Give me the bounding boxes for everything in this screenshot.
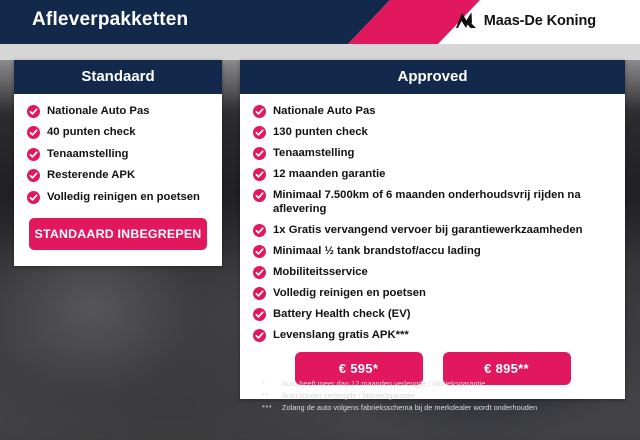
feature-label: Minimaal 7.500km of 6 maanden onderhouds… [273, 188, 612, 217]
footnote-marker: ** [262, 390, 276, 402]
feature-label: Nationale Auto Pas [273, 104, 376, 118]
maas-de-koning-m-logo-icon [455, 11, 477, 31]
check-circle-icon [253, 329, 266, 342]
feature-item: Volledig reinigen en poetsen [27, 190, 209, 204]
feature-label: 1x Gratis vervangend vervoer bij garanti… [273, 223, 583, 237]
check-circle-icon [253, 147, 266, 160]
check-circle-icon [253, 189, 266, 202]
feature-list-approved: Nationale Auto Pas130 punten checkTenaam… [253, 104, 612, 342]
feature-item: 1x Gratis vervangend vervoer bij garanti… [253, 223, 612, 237]
feature-item: Minimaal 7.500km of 6 maanden onderhouds… [253, 188, 612, 217]
feature-item: Nationale Auto Pas [253, 104, 612, 118]
footnote-row: *Auto heeft meer dan 12 maanden verlengd… [262, 378, 622, 390]
feature-item: Volledig reinigen en poetsen [253, 286, 612, 300]
check-circle-icon [253, 126, 266, 139]
footnote-marker: * [262, 378, 276, 390]
check-circle-icon [253, 105, 266, 118]
card-title-standaard: Standaard [14, 60, 222, 94]
feature-item: Mobiliteitsservice [253, 265, 612, 279]
footnote-text: Auto zonder verlengde / fabrieksgarantie [282, 390, 622, 402]
feature-label: Resterende APK [47, 168, 135, 182]
feature-label: 12 maanden garantie [273, 167, 385, 181]
footnote-text: Auto heeft meer dan 12 maanden verlengde… [282, 378, 622, 390]
check-circle-icon [27, 126, 40, 139]
feature-list-standaard: Nationale Auto Pas40 punten checkTenaams… [27, 104, 209, 204]
feature-label: Mobiliteitsservice [273, 265, 368, 279]
feature-label: Tenaamstelling [47, 147, 128, 161]
page-title: Afleverpakketten [32, 9, 188, 31]
footnote-row: **Auto zonder verlengde / fabrieksgarant… [262, 390, 622, 402]
feature-label: Levenslang gratis APK*** [273, 328, 409, 342]
check-circle-icon [27, 148, 40, 161]
card-body-standaard: Nationale Auto Pas40 punten checkTenaams… [14, 94, 222, 266]
footnote-row: ***Zolang de auto volgens fabrieksschema… [262, 402, 622, 414]
feature-item: Battery Health check (EV) [253, 307, 612, 321]
feature-label: Nationale Auto Pas [47, 104, 150, 118]
feature-item: Levenslang gratis APK*** [253, 328, 612, 342]
feature-label: Volledig reinigen en poetsen [273, 286, 426, 300]
card-body-approved: Nationale Auto Pas130 punten checkTenaam… [240, 94, 625, 399]
feature-item: Resterende APK [27, 168, 209, 182]
check-circle-icon [253, 266, 266, 279]
brand-logo: Maas-De Koning [455, 11, 596, 31]
feature-label: Volledig reinigen en poetsen [47, 190, 200, 204]
footnote-marker: *** [262, 402, 276, 414]
footnotes: *Auto heeft meer dan 12 maanden verlengd… [262, 378, 622, 414]
card-title-approved: Approved [240, 60, 625, 94]
feature-item: 12 maanden garantie [253, 167, 612, 181]
feature-item: Tenaamstelling [27, 147, 209, 161]
brand-name: Maas-De Koning [484, 13, 596, 29]
package-card-approved: Approved Nationale Auto Pas130 punten ch… [240, 60, 625, 399]
check-circle-icon [253, 224, 266, 237]
feature-item: Minimaal ½ tank brandstof/accu lading [253, 244, 612, 258]
feature-item: 130 punten check [253, 125, 612, 139]
check-circle-icon [27, 105, 40, 118]
standaard-inbegrepen-button[interactable]: STANDAARD INBEGREPEN [29, 218, 207, 250]
footnote-text: Zolang de auto volgens fabrieksschema bi… [282, 402, 622, 414]
feature-item: Tenaamstelling [253, 146, 612, 160]
feature-label: Tenaamstelling [273, 146, 354, 160]
feature-item: 40 punten check [27, 125, 209, 139]
check-circle-icon [27, 191, 40, 204]
check-circle-icon [253, 287, 266, 300]
header-underband [0, 44, 640, 60]
feature-label: Battery Health check (EV) [273, 307, 411, 321]
feature-item: Nationale Auto Pas [27, 104, 209, 118]
feature-label: 130 punten check [273, 125, 368, 139]
package-card-standaard: Standaard Nationale Auto Pas40 punten ch… [14, 60, 222, 266]
check-circle-icon [253, 168, 266, 181]
check-circle-icon [253, 245, 266, 258]
check-circle-icon [253, 308, 266, 321]
feature-label: Minimaal ½ tank brandstof/accu lading [273, 244, 481, 258]
check-circle-icon [27, 169, 40, 182]
feature-label: 40 punten check [47, 125, 136, 139]
page-header: Afleverpakketten Maas-De Koning [0, 0, 640, 44]
